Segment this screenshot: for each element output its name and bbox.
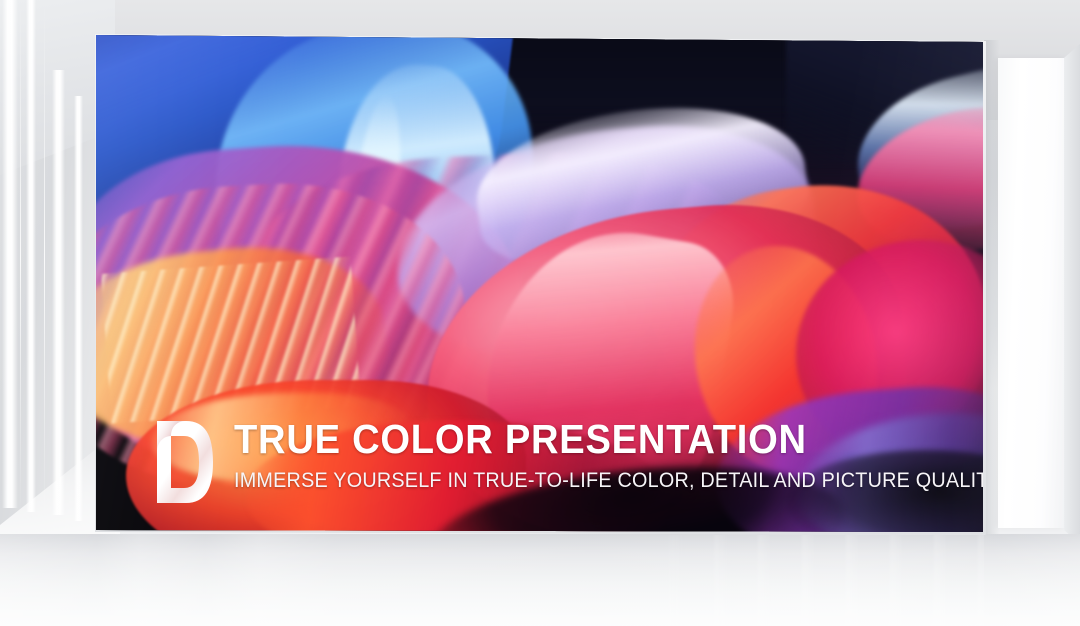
right-wall-edge [1064,44,1080,544]
wall-seam-1 [20,0,21,515]
right-wall-pillar [998,58,1066,528]
floor-gloss [0,534,1080,626]
headline-block: TRUE COLOR PRESENTATION IMMERSE YOURSELF… [234,419,983,494]
title-lockup: TRUE COLOR PRESENTATION IMMERSE YOURSELF… [153,417,983,505]
panel-screen: TRUE COLOR PRESENTATION IMMERSE YOURSELF… [96,35,983,532]
wall-pillar-4 [74,96,83,521]
wall-pillar-2 [26,0,36,512]
wall-pillar-3 [52,70,65,515]
page-title: TRUE COLOR PRESENTATION [234,419,983,461]
showroom-scene: TRUE COLOR PRESENTATION IMMERSE YOURSELF… [0,0,1080,626]
wall-seam-2 [44,0,45,518]
led-video-wall[interactable]: TRUE COLOR PRESENTATION IMMERSE YOURSELF… [94,32,986,535]
d-logo [153,419,215,505]
page-subtitle: IMMERSE YOURSELF IN TRUE-TO-LIFE COLOR, … [234,468,983,494]
wall-pillar-1 [2,0,18,508]
